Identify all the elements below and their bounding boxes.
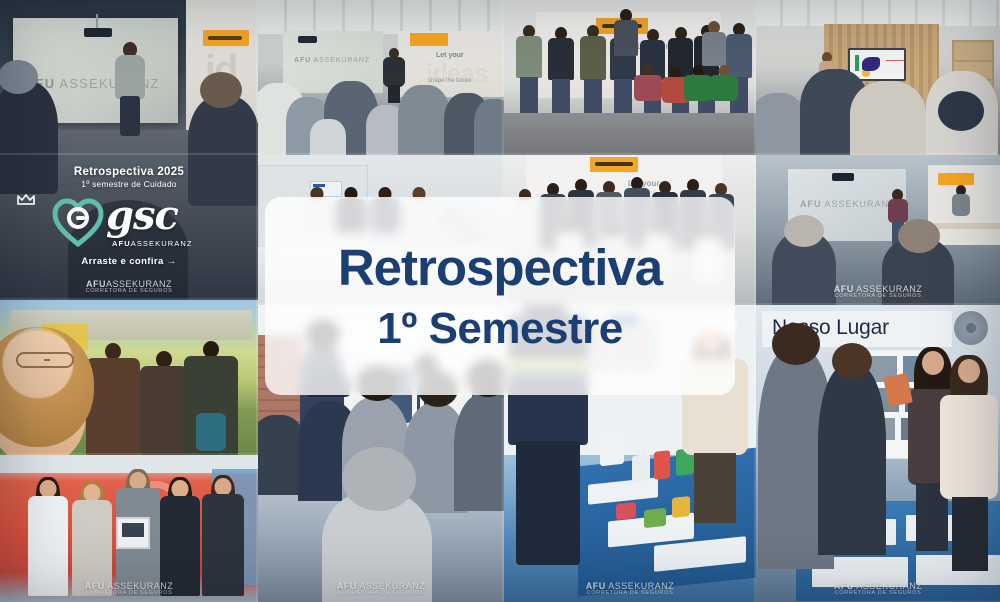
audience-figure bbox=[772, 231, 836, 305]
projector-icon bbox=[298, 36, 317, 43]
audience-figure bbox=[938, 91, 984, 131]
eyeglasses-icon bbox=[16, 352, 74, 368]
visitor-figure bbox=[818, 365, 886, 555]
title-overlay-card: Retrospectiva 1º Semestre bbox=[265, 197, 735, 395]
audience-figure bbox=[850, 81, 926, 155]
photo-tile-speaker-afu-screen[interactable]: AFU ASSEKURAN AFU ASSEKURANZ CORRETORA D… bbox=[756, 155, 1000, 305]
person-figure bbox=[202, 478, 244, 596]
gsc-sublabel: AFUASSEKURANZ bbox=[112, 239, 193, 248]
kneeling-figure bbox=[634, 65, 662, 113]
continental-banner bbox=[203, 30, 249, 46]
selfie-face bbox=[0, 331, 86, 455]
ceiling bbox=[756, 0, 1000, 26]
backpack bbox=[196, 413, 226, 451]
person-figure bbox=[548, 27, 574, 113]
photo-tile-classroom-presentation[interactable]: Let your ideas shape the future AFU ASSE… bbox=[258, 0, 504, 155]
overlay-title-line2: 1º Semestre bbox=[377, 307, 622, 351]
projector-icon bbox=[84, 28, 112, 37]
gsc-lockup: Retrospectiva 2025 1º semestre de Cuidad… bbox=[0, 166, 258, 267]
award-frame bbox=[116, 517, 150, 549]
collage-canvas: id AFU ASSEKURANZ Retrospectiva 2025 1º … bbox=[0, 0, 1000, 602]
person-figure bbox=[516, 25, 542, 113]
continental-banner bbox=[410, 33, 448, 46]
crown-icon bbox=[17, 192, 35, 203]
speaker-figure bbox=[112, 42, 148, 134]
continental-banner bbox=[938, 173, 974, 185]
person-figure bbox=[72, 484, 112, 596]
visitor-figure bbox=[938, 359, 1000, 571]
continental-banner bbox=[590, 157, 638, 172]
display-item bbox=[632, 454, 650, 482]
photo-tile-outdoor-selfie-team[interactable] bbox=[0, 300, 258, 455]
screen-brand-text: AFU ASSEKURAN bbox=[800, 199, 889, 209]
photo-tile-auditorium-slide[interactable] bbox=[756, 0, 1000, 155]
heart-logo-icon bbox=[52, 196, 104, 248]
person-figure bbox=[580, 25, 606, 113]
display-stand bbox=[600, 430, 624, 467]
audience-figure bbox=[882, 237, 954, 305]
person-figure bbox=[86, 343, 140, 455]
person-figure bbox=[28, 480, 68, 596]
audience-row bbox=[258, 77, 504, 155]
person-figure bbox=[952, 185, 970, 225]
fan-icon bbox=[954, 311, 988, 345]
photo-tile-presenter-stage[interactable]: id AFU ASSEKURANZ Retrospectiva 2025 1º … bbox=[0, 0, 258, 300]
audience-figure bbox=[756, 93, 806, 155]
person-figure bbox=[140, 351, 188, 455]
overlay-title-line1: Retrospectiva bbox=[338, 242, 662, 293]
kneeling-figure bbox=[684, 65, 712, 113]
display-item bbox=[644, 508, 666, 528]
photo-tile-group-photo-continental[interactable]: Let your bbox=[504, 0, 756, 155]
kneeling-figure bbox=[710, 65, 738, 113]
audience-head bbox=[342, 447, 416, 511]
screen-brand-text: AFU ASSEKURANZ bbox=[294, 57, 370, 64]
floor bbox=[504, 113, 756, 155]
swipe-cta[interactable]: Arraste e confira → bbox=[0, 256, 258, 267]
display-item bbox=[616, 502, 636, 520]
audience-figure bbox=[454, 393, 504, 511]
person-figure bbox=[160, 480, 200, 596]
tile-title: Retrospectiva 2025 bbox=[0, 166, 258, 178]
tile-subtitle: 1º semestre de Cuidado bbox=[0, 179, 258, 189]
display-item bbox=[654, 450, 670, 480]
projector-icon bbox=[832, 173, 854, 181]
ceiling bbox=[258, 0, 504, 34]
gsc-wordmark: gsc bbox=[106, 196, 178, 236]
photo-tile-nosso-lugar-exhibit[interactable]: Nosso Lugar AFU ASSEKURANZ CORRETORA DE … bbox=[756, 305, 1000, 602]
photo-tile-team-red-wall[interactable]: AFU ASSEKURANZ CORRETORA DE SEGUROS bbox=[0, 455, 258, 602]
